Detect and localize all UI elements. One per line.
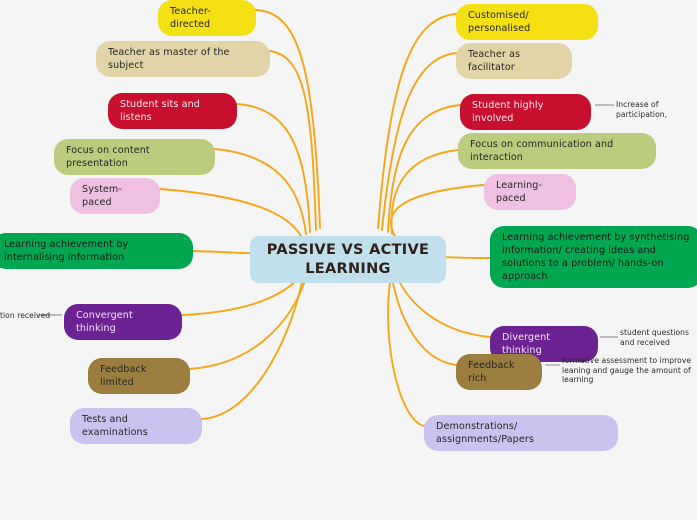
branch-link-teacher-as-facilitator bbox=[382, 53, 456, 230]
node-tests-and-examinations[interactable]: Tests and examinations bbox=[70, 408, 202, 444]
branch-link-tests-and-examinations bbox=[202, 282, 302, 419]
branch-link-feedback-limited bbox=[190, 278, 306, 369]
branch-link-demonstrations-assignments-papers bbox=[388, 282, 424, 426]
mindmap-canvas: PASSIVE VS ACTIVE LEARNINGTeacher-direct… bbox=[0, 0, 697, 520]
branch-link-divergent-thinking bbox=[396, 274, 490, 337]
branch-link-student-sits-and-listens bbox=[237, 104, 310, 232]
node-teacher-directed[interactable]: Teacher-directed bbox=[158, 0, 256, 36]
branch-link-customised-personalised bbox=[378, 14, 456, 228]
node-feedback-rich[interactable]: Feedback rich bbox=[456, 354, 542, 390]
central-topic-node[interactable]: PASSIVE VS ACTIVE LEARNING bbox=[250, 236, 446, 283]
annotation-feedback-rich: formative assessment to improve leaning … bbox=[562, 356, 697, 385]
node-focus-on-content-presentation[interactable]: Focus on content presentation bbox=[54, 139, 215, 175]
node-teacher-as-facilitator[interactable]: Teacher as facilitator bbox=[456, 43, 572, 79]
branch-link-focus-on-communication-and-interaction bbox=[391, 150, 458, 234]
annotation-divergent-thinking: student questions and received bbox=[620, 328, 697, 347]
branch-link-teacher-as-master-of-the-subject bbox=[270, 51, 316, 230]
node-student-sits-and-listens[interactable]: Student sits and listens bbox=[108, 93, 237, 129]
node-convergent-thinking[interactable]: Convergent thinking bbox=[64, 304, 182, 340]
node-system-paced[interactable]: System-paced bbox=[70, 178, 160, 214]
node-demonstrations-assignments-papers[interactable]: Demonstrations/ assignments/Papers bbox=[424, 415, 618, 451]
annotation-student-highly-involved: Increase of participation, bbox=[616, 100, 697, 119]
node-customised-personalised[interactable]: Customised/ personalised bbox=[456, 4, 598, 40]
node-learning-achievement-internalising[interactable]: Learning achievement by internalising in… bbox=[0, 233, 193, 269]
node-teacher-as-master-of-the-subject[interactable]: Teacher as master of the subject bbox=[96, 41, 270, 77]
node-learning-paced[interactable]: Learning-paced bbox=[484, 174, 576, 210]
node-focus-on-communication-and-interaction[interactable]: Focus on communication and interaction bbox=[458, 133, 656, 169]
branch-link-system-paced bbox=[160, 189, 302, 238]
branch-link-focus-on-content-presentation bbox=[215, 149, 306, 234]
node-learning-achievement-synthetising[interactable]: Learning achievement by synthetising inf… bbox=[490, 226, 697, 288]
node-student-highly-involved[interactable]: Student highly involved bbox=[460, 94, 591, 130]
annotation-convergent-thinking: tion received bbox=[0, 311, 50, 321]
node-feedback-limited[interactable]: Feedback limited bbox=[88, 358, 190, 394]
branch-link-teacher-directed bbox=[256, 10, 320, 228]
branch-link-learning-paced bbox=[391, 185, 484, 238]
branch-link-feedback-rich bbox=[392, 278, 456, 365]
branch-link-student-highly-involved bbox=[388, 105, 460, 232]
